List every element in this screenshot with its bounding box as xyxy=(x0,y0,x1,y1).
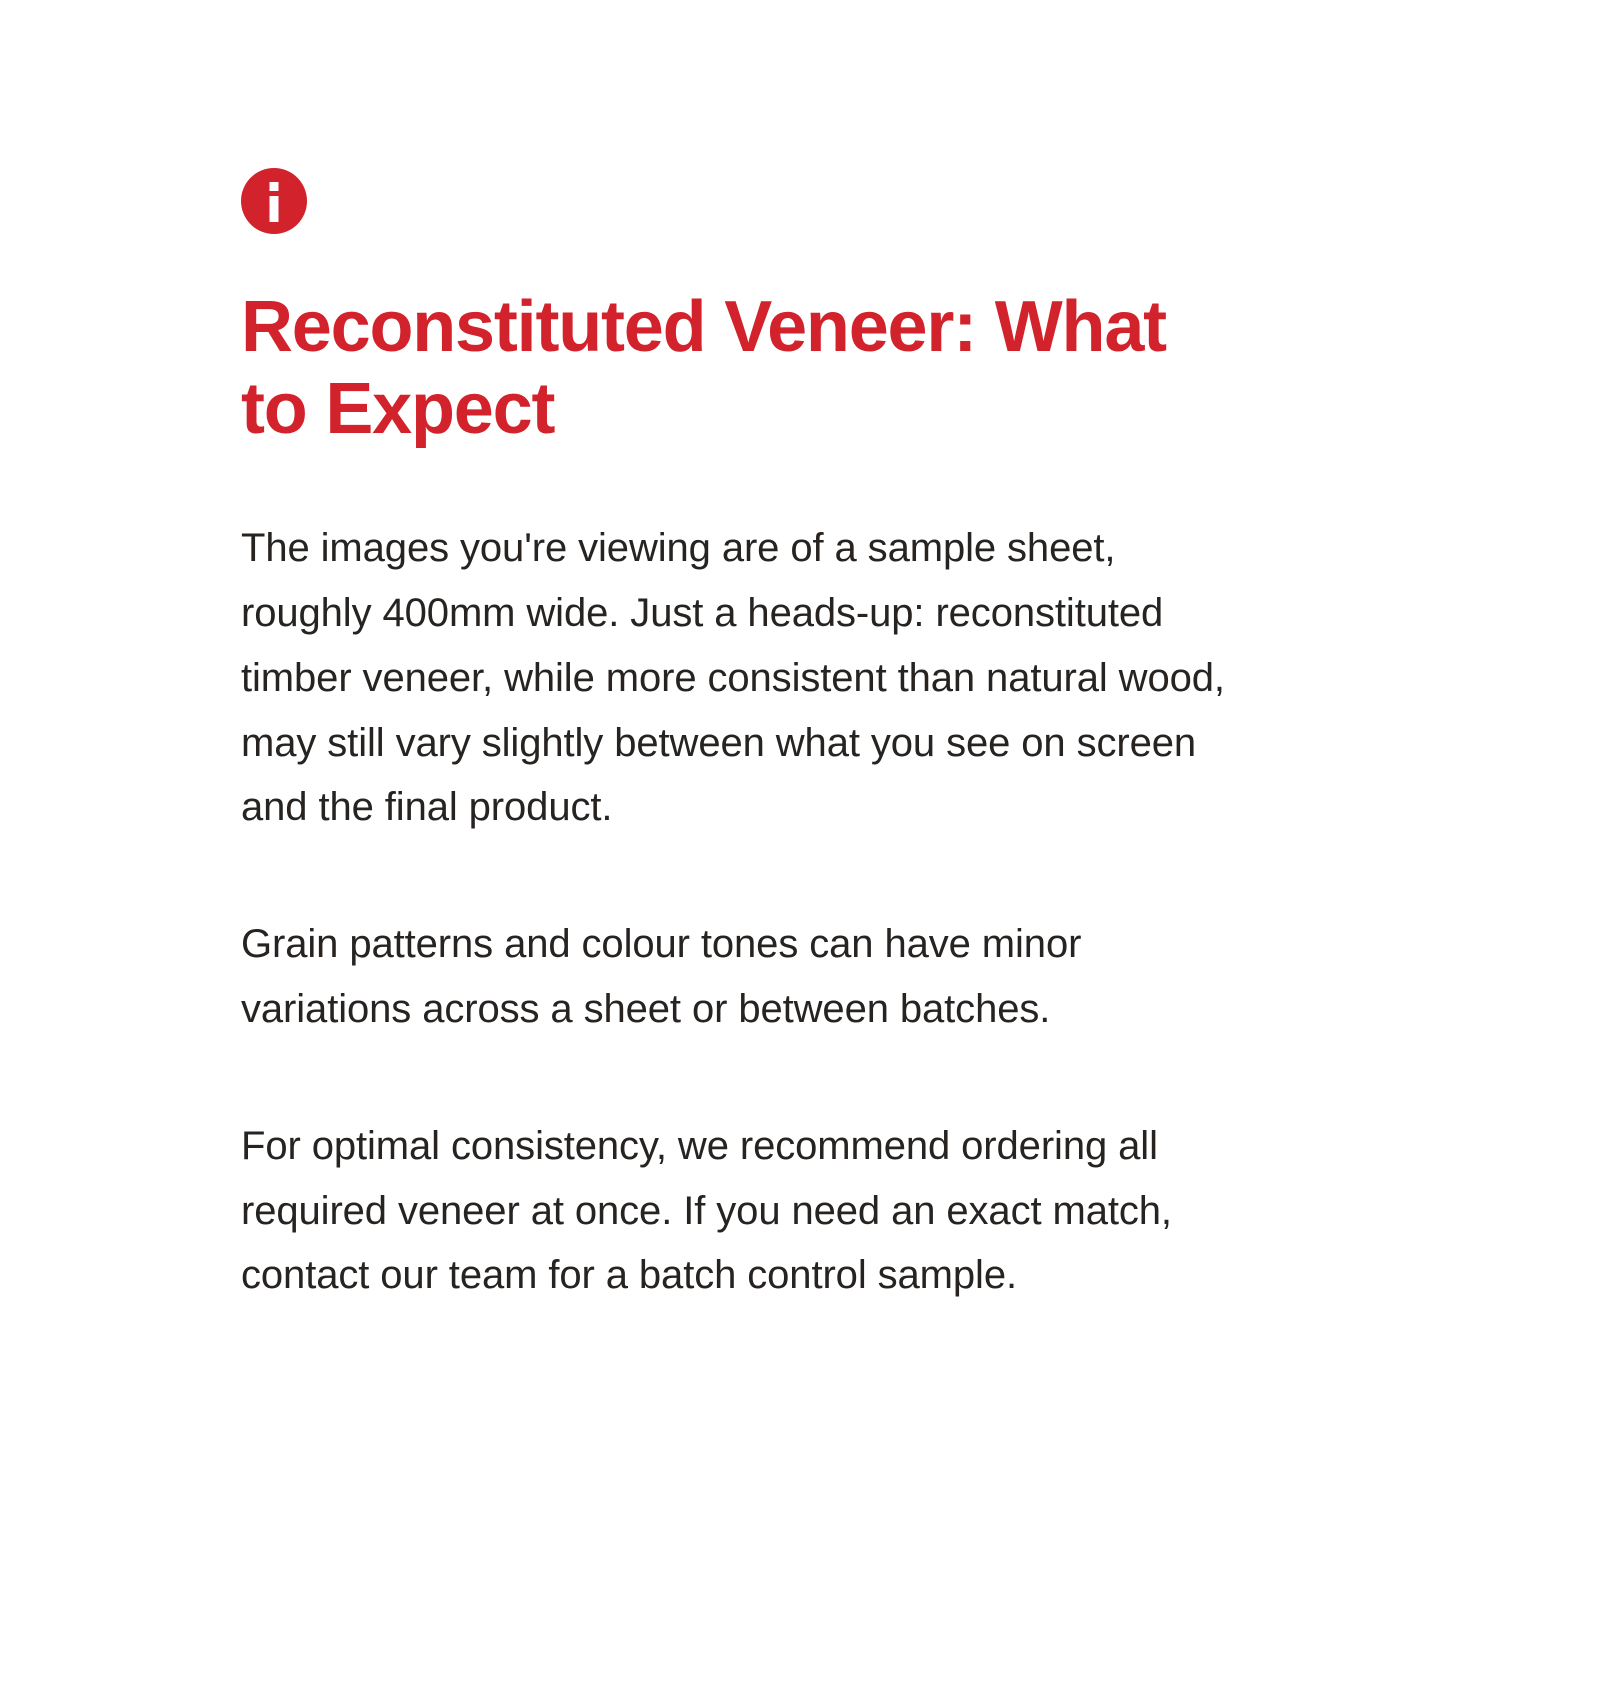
card-body: The images you're viewing are of a sampl… xyxy=(241,516,1241,1308)
body-paragraph-1: The images you're viewing are of a sampl… xyxy=(241,516,1241,840)
body-paragraph-3: For optimal consistency, we recommend or… xyxy=(241,1114,1241,1308)
body-paragraph-2: Grain patterns and colour tones can have… xyxy=(241,912,1241,1042)
info-icon-dot xyxy=(270,182,279,191)
info-icon-stem xyxy=(270,196,279,222)
page-root: Reconstituted Veneer: What to Expect The… xyxy=(0,0,1620,1686)
card-title: Reconstituted Veneer: What to Expect xyxy=(241,286,1241,450)
info-icon-row xyxy=(241,168,1241,254)
info-circle-icon xyxy=(241,168,307,234)
info-card: Reconstituted Veneer: What to Expect The… xyxy=(241,168,1241,1308)
